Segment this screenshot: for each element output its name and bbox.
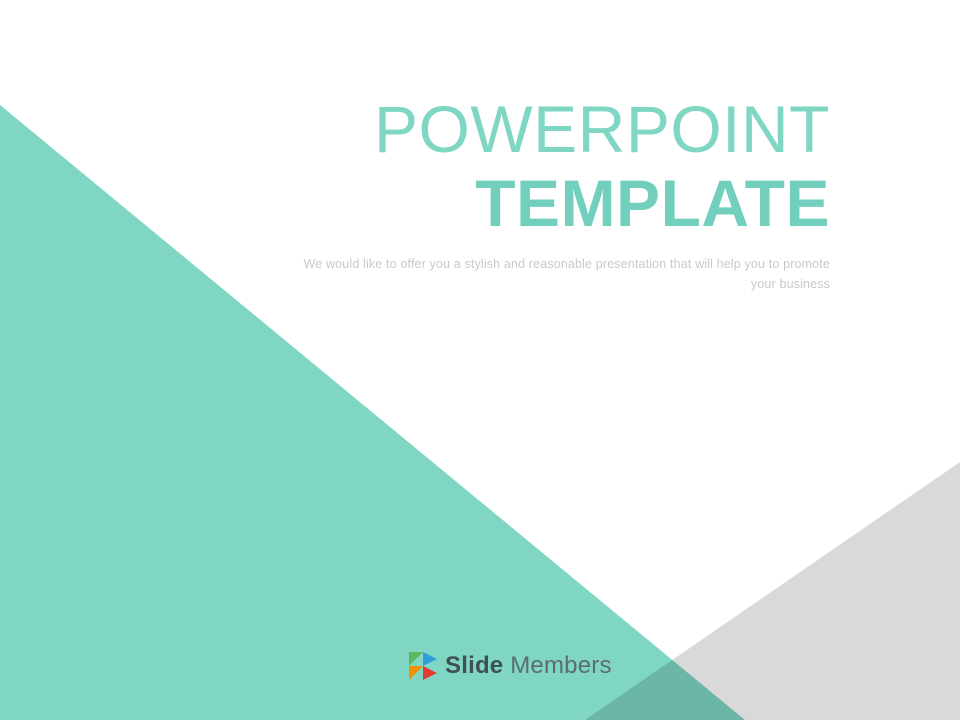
logo-word-bold: Slide xyxy=(445,652,503,679)
page-title-secondary: TEMPLATE xyxy=(300,169,830,239)
logo-word-light: Members xyxy=(503,652,611,679)
logo-wordmark: Slide Members xyxy=(445,654,612,678)
subtitle-text: We would like to offer you a stylish and… xyxy=(300,255,830,294)
pinwheel-logo-icon xyxy=(408,650,438,682)
title-slide: POWERPOINT TEMPLATE We would like to off… xyxy=(0,0,960,720)
page-title-primary: POWERPOINT xyxy=(300,96,830,163)
title-block: POWERPOINT TEMPLATE We would like to off… xyxy=(300,96,830,294)
slide-members-logo[interactable]: Slide Members xyxy=(408,648,612,684)
